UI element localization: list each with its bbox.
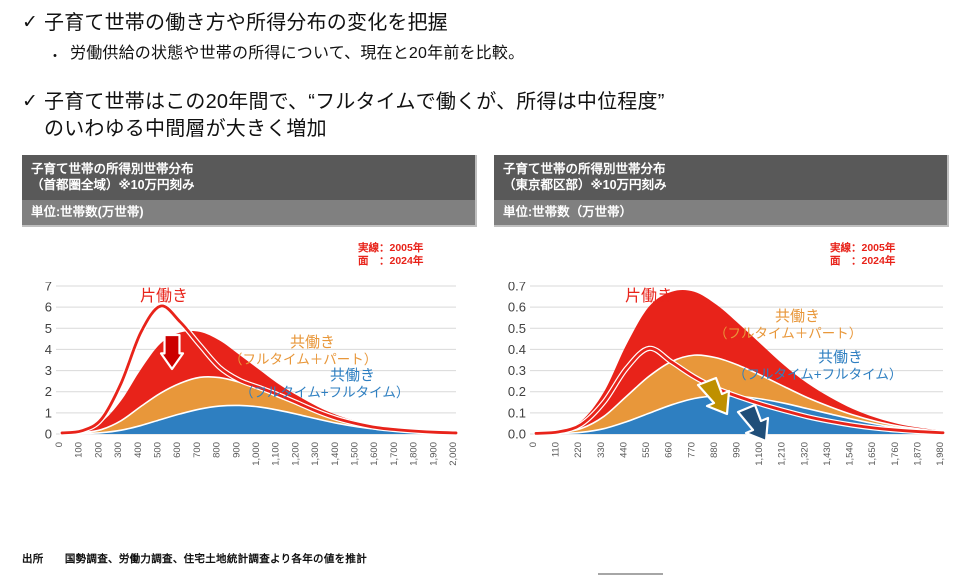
svg-text:1,540: 1,540: [845, 442, 856, 466]
bullet-item-2: ・ 労働供給の状態や世帯の所得について、現在と20年前を比較。: [48, 43, 960, 69]
svg-text:6: 6: [45, 300, 52, 315]
footer-source: 出所 国勢調査、労働力調査、住宅土地統計調査より各年の値を推計: [22, 551, 367, 566]
legend-note-left: 実線：2005年 面 ：2024年: [358, 242, 423, 268]
bullet-text-2: 労働供給の状態や世帯の所得について、現在と20年前を比較。: [70, 43, 524, 65]
svg-text:330: 330: [596, 442, 607, 458]
svg-text:1,400: 1,400: [330, 442, 341, 466]
bullet-list: ✓ 子育て世帯の働き方や所得分布の変化を把握 ・ 労働供給の状態や世帯の所得につ…: [0, 0, 960, 143]
svg-text:1,100: 1,100: [754, 442, 765, 466]
svg-text:700: 700: [192, 442, 203, 458]
svg-text:100: 100: [74, 442, 85, 458]
chart-shutoken: 0123456701002003004005006007008009001,00…: [22, 282, 462, 512]
svg-text:800: 800: [212, 442, 223, 458]
svg-text:1,300: 1,300: [310, 442, 321, 466]
panel-shutoken: 子育て世帯の所得別世帯分布 （首都圏全域）※10万円刻み 単位:世帯数(万世帯): [22, 155, 477, 227]
footer-source-text: 国勢調査、労働力調査、住宅土地統計調査より各年の値を推計: [65, 553, 367, 565]
panel-tokyo23: 子育て世帯の所得別世帯分布 （東京都区部）※10万円刻み 単位:世帯数（万世帯）: [494, 155, 949, 227]
svg-text:200: 200: [93, 442, 104, 458]
chart-svg-left: 0123456701002003004005006007008009001,00…: [22, 282, 462, 512]
svg-text:440: 440: [618, 442, 629, 458]
svg-text:5: 5: [45, 321, 52, 336]
svg-text:0.1: 0.1: [508, 405, 526, 420]
svg-text:1,980: 1,980: [935, 442, 946, 466]
svg-text:900: 900: [231, 442, 242, 458]
panel-header-sub-right: 単位:世帯数（万世帯）: [494, 200, 949, 227]
svg-text:110: 110: [551, 442, 562, 457]
svg-text:500: 500: [153, 442, 164, 458]
checkmark-icon: ✓: [22, 10, 44, 36]
svg-text:0.6: 0.6: [508, 300, 526, 315]
svg-text:1,800: 1,800: [409, 442, 420, 466]
svg-text:1,430: 1,430: [822, 442, 833, 466]
bottom-divider: [598, 573, 663, 575]
svg-text:4: 4: [45, 342, 52, 357]
svg-text:1,320: 1,320: [799, 442, 810, 466]
svg-text:1,870: 1,870: [912, 442, 923, 466]
svg-text:400: 400: [133, 442, 144, 458]
bullet-text-1: 子育て世帯の働き方や所得分布の変化を把握: [44, 10, 448, 37]
svg-text:1,650: 1,650: [867, 442, 878, 466]
svg-text:0.4: 0.4: [508, 342, 526, 357]
svg-text:550: 550: [641, 442, 652, 458]
bullet-item-1: ✓ 子育て世帯の働き方や所得分布の変化を把握: [22, 10, 960, 37]
svg-text:1: 1: [45, 405, 52, 420]
bullet-item-3: ✓ 子育て世帯はこの20年間で、“フルタイムで働くが、所得は中位程度” のいわゆ…: [22, 89, 960, 143]
panel-header-main-left: 子育て世帯の所得別世帯分布 （首都圏全域）※10万円刻み: [22, 155, 477, 200]
bullet-dot-icon: ・: [48, 43, 70, 69]
svg-text:770: 770: [686, 442, 697, 458]
checkmark-icon-2: ✓: [22, 89, 44, 115]
svg-text:7: 7: [45, 282, 52, 294]
svg-text:1,760: 1,760: [890, 442, 901, 466]
svg-text:0: 0: [54, 442, 65, 447]
legend-note-right: 実線：2005年 面 ：2024年: [830, 242, 895, 268]
svg-text:600: 600: [172, 442, 183, 458]
svg-text:2: 2: [45, 384, 52, 399]
svg-text:0: 0: [528, 442, 539, 447]
slide-root: ✓ 子育て世帯の働き方や所得分布の変化を把握 ・ 労働供給の状態や世帯の所得につ…: [0, 0, 960, 578]
svg-text:990: 990: [732, 442, 743, 458]
chart-svg-right: 0.00.10.20.30.40.50.60.70110220330440550…: [494, 282, 949, 512]
svg-text:300: 300: [113, 442, 124, 458]
svg-text:1,900: 1,900: [428, 442, 439, 466]
bullet-text-3: 子育て世帯はこの20年間で、“フルタイムで働くが、所得は中位程度” のいわゆる中…: [44, 89, 665, 143]
svg-text:220: 220: [573, 442, 584, 458]
svg-text:880: 880: [709, 442, 720, 458]
svg-text:0.3: 0.3: [508, 363, 526, 378]
svg-text:1,200: 1,200: [290, 442, 301, 466]
svg-text:1,100: 1,100: [271, 442, 282, 466]
panel-header-sub-left: 単位:世帯数(万世帯): [22, 200, 477, 227]
svg-text:0.0: 0.0: [508, 427, 526, 442]
footer-source-label: 出所: [22, 553, 44, 565]
svg-text:1,600: 1,600: [369, 442, 380, 466]
svg-text:0.2: 0.2: [508, 384, 526, 399]
svg-text:0: 0: [45, 427, 52, 442]
svg-text:2,000: 2,000: [448, 442, 459, 466]
svg-text:1,500: 1,500: [350, 442, 361, 466]
chart-tokyo23: 0.00.10.20.30.40.50.60.70110220330440550…: [494, 282, 949, 512]
svg-text:1,210: 1,210: [777, 442, 788, 466]
svg-text:0.5: 0.5: [508, 321, 526, 336]
svg-text:3: 3: [45, 363, 52, 378]
panel-header-main-right: 子育て世帯の所得別世帯分布 （東京都区部）※10万円刻み: [494, 155, 949, 200]
svg-text:1,000: 1,000: [251, 442, 262, 466]
svg-text:1,700: 1,700: [389, 442, 400, 466]
svg-text:0.7: 0.7: [508, 282, 526, 294]
svg-text:660: 660: [664, 442, 675, 458]
